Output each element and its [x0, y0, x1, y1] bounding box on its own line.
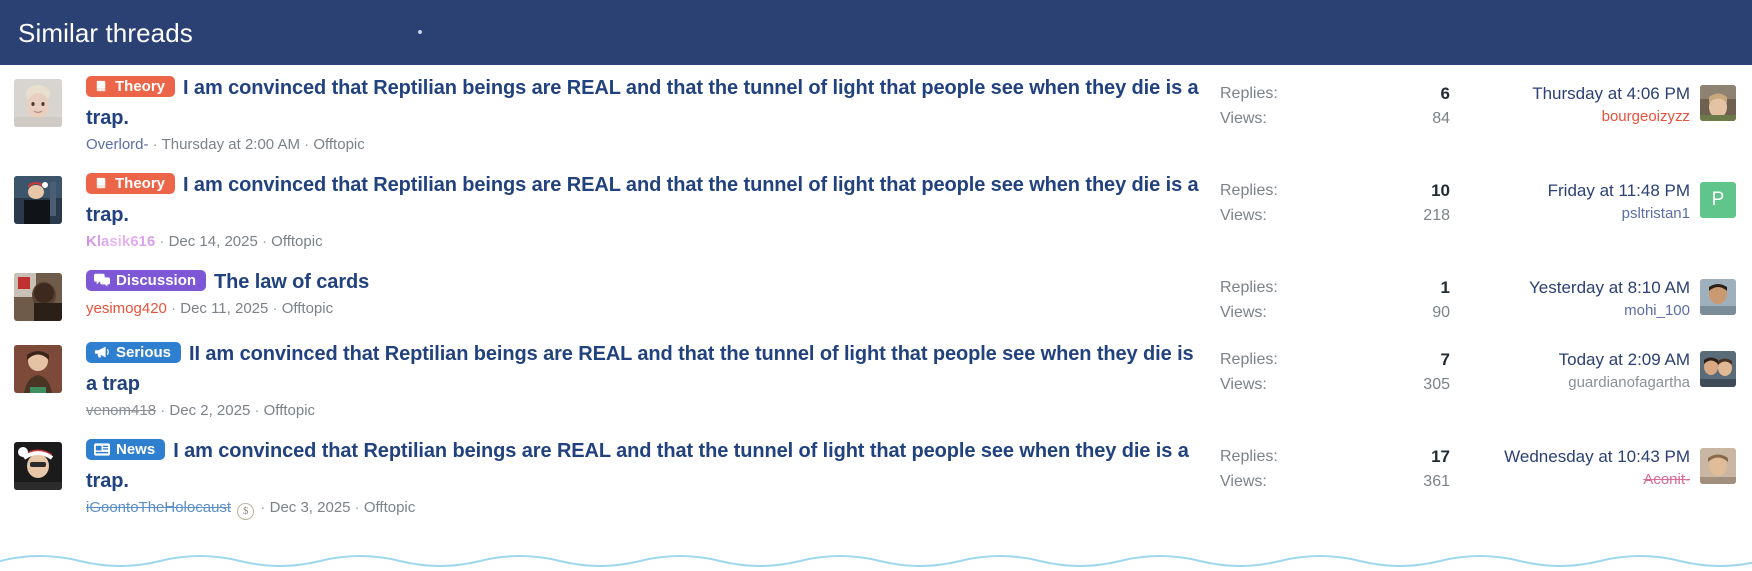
thread-meta: iGoontoTheHolocaust $ · Dec 3, 2025 · Of…	[86, 497, 1210, 520]
replies-value: 17	[1431, 444, 1450, 469]
last-post-avatar[interactable]	[1700, 351, 1736, 387]
megaphone-icon	[94, 345, 110, 359]
thread-stats: Replies: 6 Views: 84	[1220, 73, 1450, 131]
discussion-icon	[94, 273, 110, 287]
last-post-date[interactable]: Thursday at 4:06 PM	[1450, 81, 1690, 106]
last-post-user[interactable]: guardianofagartha	[1450, 372, 1690, 394]
thread-title[interactable]: II am convinced that Reptilian beings ar…	[86, 343, 1194, 395]
wave-divider	[0, 549, 1752, 571]
thread-stats: Replies: 1 Views: 90	[1220, 267, 1450, 325]
thread-date: Thursday at 2:00 AM	[162, 136, 300, 153]
views-row: Views: 90	[1220, 300, 1450, 325]
views-label: Views:	[1220, 106, 1267, 131]
thread-meta: yesimog420 · Dec 11, 2025 · Offtopic	[86, 298, 1210, 320]
avatar[interactable]	[14, 273, 62, 321]
last-post-date[interactable]: Today at 2:09 AM	[1450, 347, 1690, 372]
last-post-avatar[interactable]	[1700, 448, 1736, 484]
last-post-avatar[interactable]	[1700, 279, 1736, 315]
thread-forum[interactable]: Offtopic	[364, 499, 415, 516]
thread-last-post: Wednesday at 10:43 PM Aconit-	[1450, 436, 1700, 491]
thread-stats: Replies: 17 Views: 361	[1220, 436, 1450, 494]
thread-author[interactable]: venom418	[86, 402, 156, 419]
last-post-user[interactable]: bourgeoizyzz	[1450, 106, 1690, 128]
replies-row: Replies: 17	[1220, 444, 1450, 469]
views-value: 218	[1423, 203, 1450, 228]
replies-label: Replies:	[1220, 178, 1278, 203]
replies-row: Replies: 1	[1220, 275, 1450, 300]
header-dot	[418, 30, 422, 34]
thread-title-line: News I am convinced that Reptilian being…	[86, 436, 1210, 496]
avatar[interactable]	[14, 345, 62, 393]
thread-main: Theory I am convinced that Reptilian bei…	[62, 170, 1220, 253]
replies-label: Replies:	[1220, 81, 1278, 106]
thread-date: Dec 2, 2025	[169, 402, 250, 419]
table-row[interactable]: Theory I am convinced that Reptilian bei…	[0, 162, 1752, 259]
views-row: Views: 84	[1220, 106, 1450, 131]
badge-label: Theory	[115, 79, 165, 94]
last-post-date[interactable]: Wednesday at 10:43 PM	[1450, 444, 1690, 469]
thread-meta: venom418 · Dec 2, 2025 · Offtopic	[86, 400, 1210, 422]
avatar[interactable]	[14, 79, 62, 127]
thread-author[interactable]: yesimog420	[86, 300, 167, 317]
thread-title[interactable]: I am convinced that Reptilian beings are…	[86, 174, 1199, 226]
page-title: Similar threads	[18, 20, 193, 46]
replies-row: Replies: 10	[1220, 178, 1450, 203]
replies-value: 10	[1431, 178, 1450, 203]
last-post-user[interactable]: Aconit-	[1450, 469, 1690, 491]
thread-title-line: Serious II am convinced that Reptilian b…	[86, 339, 1210, 399]
thread-author[interactable]: iGoontoTheHolocaust	[86, 499, 231, 516]
thread-meta: Klasik616 · Dec 14, 2025 · Offtopic	[86, 231, 1210, 253]
thread-main: Theory I am convinced that Reptilian bei…	[62, 73, 1220, 156]
avatar[interactable]	[14, 176, 62, 224]
views-value: 84	[1432, 106, 1450, 131]
avatar[interactable]	[14, 442, 62, 490]
thread-author[interactable]: Klasik616	[86, 233, 155, 250]
badge-label: Discussion	[116, 273, 196, 288]
widget-header: Similar threads	[0, 0, 1752, 65]
replies-value: 7	[1441, 347, 1450, 372]
views-label: Views:	[1220, 372, 1267, 397]
thread-prefix-badge[interactable]: Theory	[86, 173, 175, 194]
table-row[interactable]: Serious II am convinced that Reptilian b…	[0, 331, 1752, 428]
thread-last-post: Today at 2:09 AM guardianofagartha	[1450, 339, 1700, 394]
thread-forum[interactable]: Offtopic	[271, 233, 322, 250]
badge-label: Theory	[115, 176, 165, 191]
thread-main: News I am convinced that Reptilian being…	[62, 436, 1220, 520]
replies-row: Replies: 7	[1220, 347, 1450, 372]
views-label: Views:	[1220, 203, 1267, 228]
thread-title[interactable]: I am convinced that Reptilian beings are…	[86, 77, 1199, 129]
thread-date: Dec 14, 2025	[169, 233, 258, 250]
thread-last-post: Friday at 11:48 PM psltristan1	[1450, 170, 1700, 225]
views-value: 305	[1423, 372, 1450, 397]
thread-date: Dec 3, 2025	[270, 499, 351, 516]
thread-title-line: Theory I am convinced that Reptilian bei…	[86, 73, 1210, 133]
thread-title[interactable]: I am convinced that Reptilian beings are…	[86, 440, 1189, 492]
replies-label: Replies:	[1220, 347, 1278, 372]
views-row: Views: 218	[1220, 203, 1450, 228]
views-label: Views:	[1220, 469, 1267, 494]
coin-icon: $	[237, 503, 254, 520]
thread-title[interactable]: The law of cards	[214, 271, 369, 293]
thread-last-post: Yesterday at 8:10 AM mohi_100	[1450, 267, 1700, 322]
views-label: Views:	[1220, 300, 1267, 325]
thread-list: Theory I am convinced that Reptilian bei…	[0, 65, 1752, 526]
thread-main: Serious II am convinced that Reptilian b…	[62, 339, 1220, 422]
badge-label: Serious	[116, 345, 171, 360]
thread-main: Discussion The law of cards yesimog420 ·…	[62, 267, 1220, 320]
thread-author[interactable]: Overlord-	[86, 136, 149, 153]
thread-title-line: Theory I am convinced that Reptilian bei…	[86, 170, 1210, 230]
thread-prefix-badge[interactable]: Serious	[86, 342, 181, 363]
last-post-date[interactable]: Yesterday at 8:10 AM	[1450, 275, 1690, 300]
last-post-date[interactable]: Friday at 11:48 PM	[1450, 178, 1690, 203]
replies-value: 6	[1441, 81, 1450, 106]
thread-date: Dec 11, 2025	[180, 300, 268, 317]
replies-row: Replies: 6	[1220, 81, 1450, 106]
views-value: 361	[1423, 469, 1450, 494]
thread-stats: Replies: 10 Views: 218	[1220, 170, 1450, 228]
news-icon	[94, 443, 110, 456]
last-post-user[interactable]: mohi_100	[1450, 300, 1690, 322]
thread-forum[interactable]: Offtopic	[313, 136, 364, 153]
thread-prefix-badge[interactable]: News	[86, 439, 165, 460]
thread-title-line: Discussion The law of cards	[86, 267, 1210, 297]
thread-meta: Overlord- · Thursday at 2:00 AM · Offtop…	[86, 134, 1210, 156]
last-post-user[interactable]: psltristan1	[1450, 203, 1690, 225]
table-row[interactable]: Discussion The law of cards yesimog420 ·…	[0, 259, 1752, 331]
badge-label: News	[116, 442, 155, 457]
thread-forum[interactable]: Offtopic	[282, 300, 333, 317]
last-post-avatar[interactable]: P	[1700, 182, 1736, 218]
thread-prefix-badge[interactable]: Theory	[86, 76, 175, 97]
table-row[interactable]: Theory I am convinced that Reptilian bei…	[0, 65, 1752, 162]
thread-prefix-badge[interactable]: Discussion	[86, 270, 206, 291]
last-post-avatar[interactable]	[1700, 85, 1736, 121]
replies-value: 1	[1441, 275, 1450, 300]
thread-last-post: Thursday at 4:06 PM bourgeoizyzz	[1450, 73, 1700, 128]
thread-stats: Replies: 7 Views: 305	[1220, 339, 1450, 397]
thread-forum[interactable]: Offtopic	[264, 402, 315, 419]
theory-icon	[94, 79, 109, 94]
views-row: Views: 305	[1220, 372, 1450, 397]
views-value: 90	[1432, 300, 1450, 325]
replies-label: Replies:	[1220, 275, 1278, 300]
similar-threads-widget: Similar threads Theory I am convinced th…	[0, 0, 1752, 571]
views-row: Views: 361	[1220, 469, 1450, 494]
table-row[interactable]: News I am convinced that Reptilian being…	[0, 428, 1752, 526]
replies-label: Replies:	[1220, 444, 1278, 469]
theory-icon	[94, 176, 109, 191]
